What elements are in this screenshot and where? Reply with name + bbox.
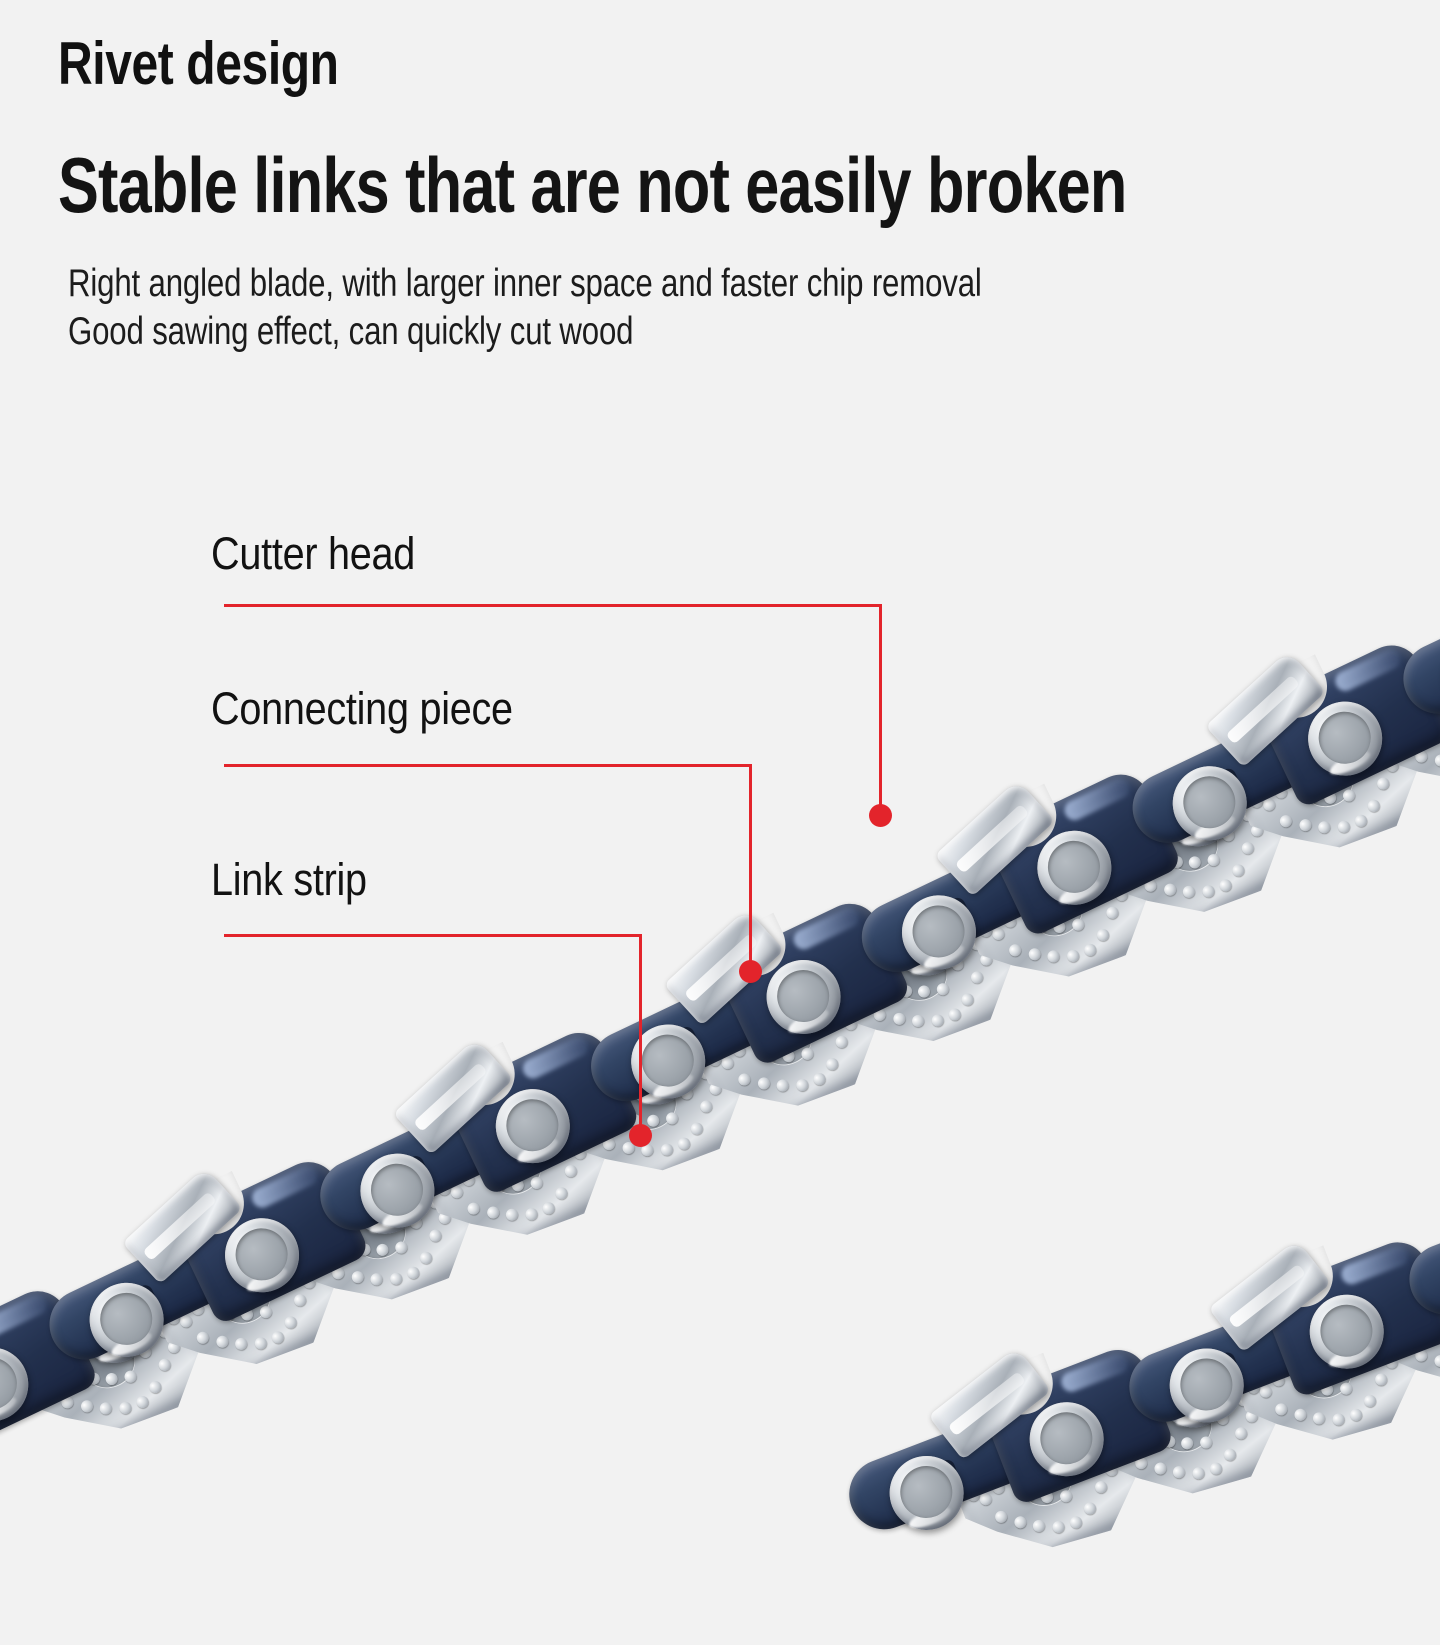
body-text-line-1: Right angled blade, with larger inner sp…	[68, 264, 982, 303]
page-title: Rivet design	[58, 34, 339, 94]
callout-label-cutter-head: Cutter head	[211, 531, 415, 576]
page-headline: Stable links that are not easily broken	[58, 146, 1126, 224]
callout-label-connecting-piece: Connecting piece	[211, 686, 513, 731]
infographic-canvas: Rivet design Stable links that are not e…	[0, 0, 1440, 1440]
body-text-line-2: Good sawing effect, can quickly cut wood	[68, 312, 633, 351]
callout-label-link-strip: Link strip	[211, 857, 367, 902]
chain-segment-lower-right	[820, 1122, 1440, 1645]
